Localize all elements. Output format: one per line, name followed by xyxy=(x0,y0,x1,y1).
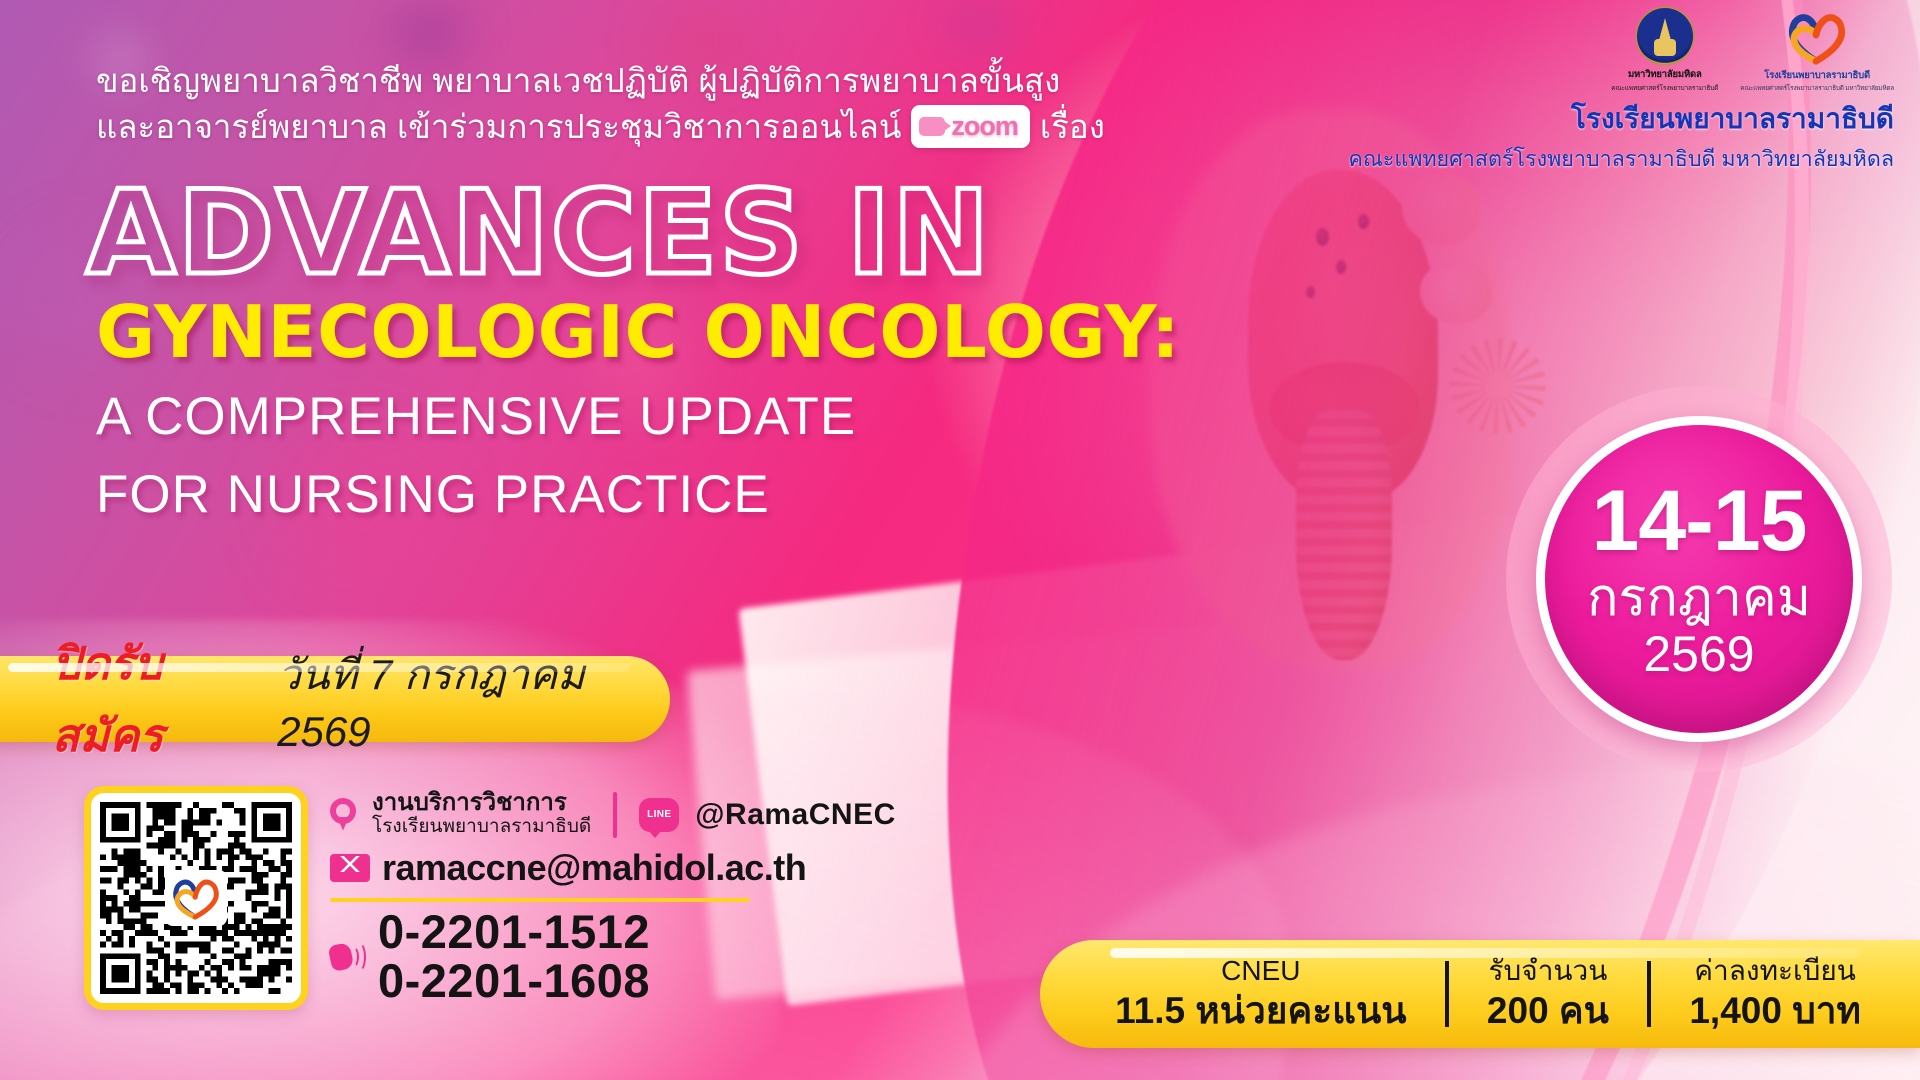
event-date-month: กรกฎาคม xyxy=(1587,570,1811,626)
line-id-text[interactable]: @RamaCNEC xyxy=(695,798,895,832)
office-name-line2: โรงเรียนพยาบาลรามาธิบดี xyxy=(372,816,591,839)
event-date-badge: 14-15 กรกฎาคม 2569 xyxy=(1536,416,1862,742)
qr-code-image[interactable] xyxy=(100,802,292,994)
nursing-school-logo-item: โรงเรียนพยาบาลรามาธิบดี คณะแพทยศาสตร์โรง… xyxy=(1740,9,1894,93)
mahidol-caption-primary: มหาวิทยาลัยมหิดล xyxy=(1628,67,1702,82)
event-date-days: 14-15 xyxy=(1592,478,1807,564)
phone-number-2[interactable]: 0-2201-1608 xyxy=(378,957,650,1006)
ramathibodi-heart-icon xyxy=(1786,9,1848,65)
detail-separator-2 xyxy=(1647,961,1651,1027)
office-name: งานบริการวิชาการ โรงเรียนพยาบาลรามาธิบดี xyxy=(372,790,591,839)
title-line-nursing-practice: FOR NURSING PRACTICE xyxy=(96,456,856,534)
email-envelope-icon xyxy=(330,854,370,882)
qr-center-heart-icon xyxy=(165,870,227,926)
detail-cneu-value: 11.5 หน่วยคะแนน xyxy=(1115,989,1406,1033)
phone-number-1[interactable]: 0-2201-1512 xyxy=(378,908,650,957)
invitation-line-1: ขอเชิญพยาบาลวิชาชีพ พยาบาลเวชปฏิบัติ ผู้… xyxy=(96,58,1105,104)
detail-fee-label: ค่าลงทะเบียน xyxy=(1694,955,1856,987)
phone-icon xyxy=(330,938,364,976)
detail-capacity-value: 200 คน xyxy=(1487,989,1609,1033)
invitation-line-2-suffix: เรื่อง xyxy=(1040,104,1105,150)
nursing-caption-secondary: คณะแพทยศาสตร์โรงพยาบาลรามาธิบดี มหาวิทยา… xyxy=(1740,83,1894,93)
invitation-header: ขอเชิญพยาบาลวิชาชีพ พยาบาลเวชปฏิบัติ ผู้… xyxy=(96,58,1105,149)
detail-fee-value: 1,400 บาท xyxy=(1689,989,1861,1033)
office-name-line1: งานบริการวิชาการ xyxy=(372,790,591,816)
email-address[interactable]: ramaccne@mahidol.ac.th xyxy=(382,847,806,889)
detail-separator-1 xyxy=(1445,961,1449,1027)
contact-info-block: งานบริการวิชาการ โรงเรียนพยาบาลรามาธิบดี… xyxy=(330,790,896,889)
detail-fee: ค่าลงทะเบียน 1,400 บาท xyxy=(1689,955,1861,1034)
title-subtitle-block: A COMPREHENSIVE UPDATE FOR NURSING PRACT… xyxy=(96,378,856,535)
contact-office-row: งานบริการวิชาการ โรงเรียนพยาบาลรามาธิบดี… xyxy=(330,790,896,839)
invitation-line-2-text: และอาจารย์พยาบาล เข้าร่วมการประชุมวิชากา… xyxy=(96,104,901,150)
invitation-line-2: และอาจารย์พยาบาล เข้าร่วมการประชุมวิชากา… xyxy=(96,104,1105,150)
institution-name-line1: โรงเรียนพยาบาลรามาธิบดี xyxy=(1571,97,1894,141)
deadline-date: วันที่ 7 กรกฎาคม 2569 xyxy=(277,642,670,756)
detail-capacity: รับจำนวน 200 คน xyxy=(1487,955,1609,1034)
institution-logo-block: มหาวิทยาลัยมหิดล คณะแพทยศาสตร์โรงพยาบาลร… xyxy=(1348,8,1894,176)
contact-phone-row: 0-2201-1512 0-2201-1608 xyxy=(330,908,650,1006)
mahidol-seal-icon xyxy=(1637,8,1693,64)
mahidol-caption-secondary: คณะแพทยศาสตร์โรงพยาบาลรามาธิบดี xyxy=(1611,82,1718,93)
zoom-wordmark: zoom xyxy=(951,108,1018,145)
contact-horizontal-divider xyxy=(330,898,750,902)
event-date-year: 2569 xyxy=(1643,628,1754,681)
deadline-label: ปิดรับสมัคร xyxy=(52,627,263,771)
zoom-logo: zoom xyxy=(911,105,1030,148)
registration-deadline-banner: ปิดรับสมัคร วันที่ 7 กรกฎาคม 2569 xyxy=(0,656,670,742)
contact-divider-vertical xyxy=(613,792,617,838)
qr-code-card[interactable] xyxy=(84,786,308,1010)
title-line-gynecologic-oncology: GYNECOLOGIC ONCOLOGY: xyxy=(96,296,1180,368)
logo-row: มหาวิทยาลัยมหิดล คณะแพทยศาสตร์โรงพยาบาลร… xyxy=(1611,8,1894,93)
mahidol-logo-item: มหาวิทยาลัยมหิดล คณะแพทยศาสตร์โรงพยาบาลร… xyxy=(1611,8,1718,93)
line-badge-text: LINE xyxy=(647,809,671,820)
background-paper-sheet xyxy=(739,514,1562,1006)
location-pin-icon xyxy=(330,798,356,832)
title-line-advances: ADVANCES IN xyxy=(86,176,991,292)
detail-capacity-label: รับจำนวน xyxy=(1488,955,1607,987)
event-details-bar: CNEU 11.5 หน่วยคะแนน รับจำนวน 200 คน ค่า… xyxy=(1040,940,1920,1048)
line-app-icon: LINE xyxy=(639,798,679,832)
detail-cneu-label: CNEU xyxy=(1221,955,1300,987)
zoom-camera-icon xyxy=(919,117,945,136)
detail-cneu: CNEU 11.5 หน่วยคะแนน xyxy=(1115,955,1406,1034)
title-line-comprehensive-update: A COMPREHENSIVE UPDATE xyxy=(96,378,856,456)
phone-number-list: 0-2201-1512 0-2201-1608 xyxy=(378,908,650,1006)
nursing-caption-primary: โรงเรียนพยาบาลรามาธิบดี xyxy=(1764,68,1870,83)
contact-email-row: ramaccne@mahidol.ac.th xyxy=(330,847,896,889)
conference-poster: มหาวิทยาลัยมหิดล คณะแพทยศาสตร์โรงพยาบาลร… xyxy=(0,0,1920,1080)
institution-name-line2: คณะแพทยศาสตร์โรงพยาบาลรามาธิบดี มหาวิทยา… xyxy=(1348,142,1894,176)
anatomical-model-image xyxy=(1120,110,1550,670)
